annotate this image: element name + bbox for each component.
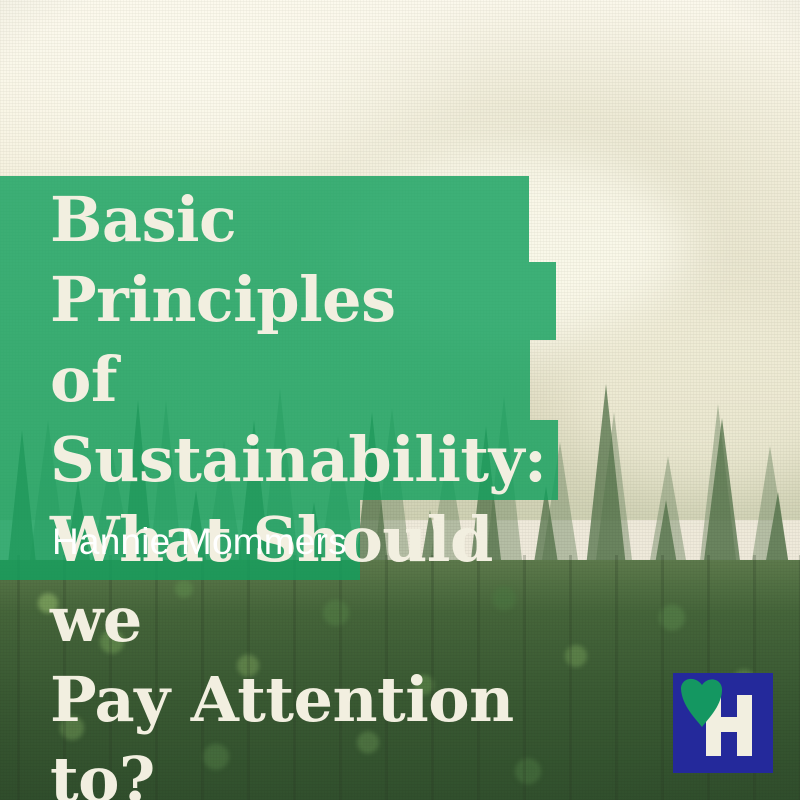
featured-image-canvas: Basic Principles of Sustainability: What… bbox=[0, 0, 800, 800]
author-name: Hannie Mommers bbox=[52, 520, 347, 564]
page-title: Basic Principles of Sustainability: What… bbox=[50, 180, 570, 800]
hannie-mommers-logo[interactable] bbox=[673, 673, 773, 773]
logo-mark bbox=[673, 673, 773, 773]
